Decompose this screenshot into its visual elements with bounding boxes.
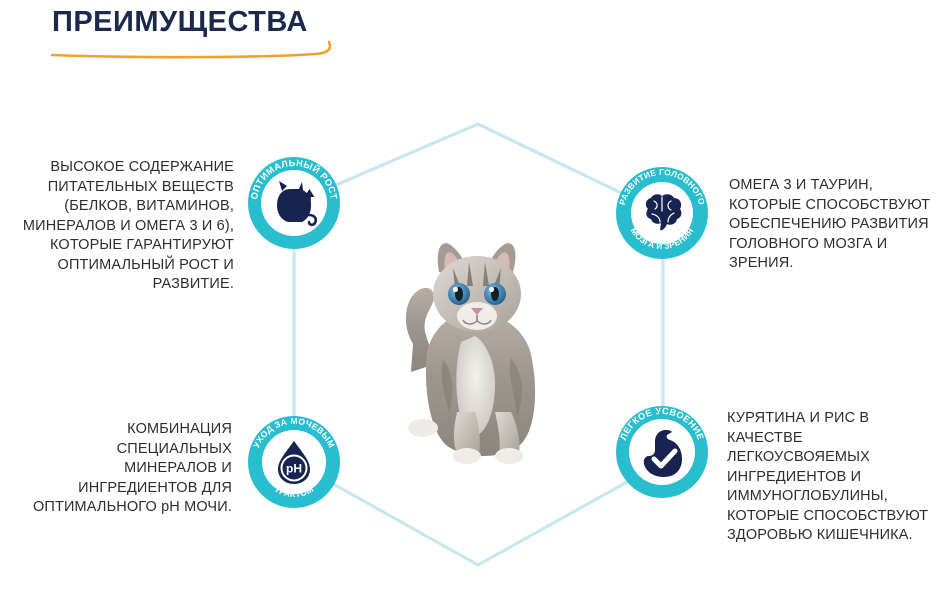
text-block-urinary: КОМБИНАЦИЯ СПЕЦИАЛЬНЫХ МИНЕРАЛОВ И ИНГРЕ… <box>20 420 232 518</box>
text-line: ОБЕСПЕЧЕНИЮ РАЗВИТИЯ <box>729 215 945 235</box>
kitten-photo <box>383 232 568 468</box>
badge-optimal-growth[interactable]: ОПТИМАЛЬНЫЙ РОСТ <box>246 155 342 251</box>
text-line: ИНГРЕДИЕНТОВ И <box>727 468 949 488</box>
text-line: ОМЕГА 3 И ТАУРИН, <box>729 176 945 196</box>
text-line: СПЕЦИАЛЬНЫХ <box>20 440 232 460</box>
text-line: ГОЛОВНОГО МОЗГА И <box>729 235 945 255</box>
badge-urinary-tract[interactable]: УХОД ЗА МОЧЕВЫМ ТРАКТОМ pH <box>246 414 342 510</box>
text-block-nutrients: ВЫСОКОЕ СОДЕРЖАНИЕ ПИТАТЕЛЬНЫХ ВЕЩЕСТВ (… <box>0 158 234 295</box>
text-line: МИНЕРАЛОВ И ОМЕГА 3 И 6), <box>0 217 234 237</box>
text-line: КУРЯТИНА И РИС В <box>727 409 949 429</box>
text-line: ПИТАТЕЛЬНЫХ ВЕЩЕСТВ <box>0 178 234 198</box>
text-line: ВЫСОКОЕ СОДЕРЖАНИЕ <box>0 158 234 178</box>
badge-easy-digestion[interactable]: ЛЕГКОЕ УСВОЕНИЕ <box>614 404 710 500</box>
text-line: (БЕЛКОВ, ВИТАМИНОВ, <box>0 197 234 217</box>
text-line: ЛЕГКОУСВОЯЕМЫХ <box>727 448 949 468</box>
title-underline-swoosh <box>48 40 348 62</box>
svg-text:pH: pH <box>286 462 302 476</box>
text-line: КОТОРЫЕ ГАРАНТИРУЮТ <box>0 236 234 256</box>
text-block-digestion: КУРЯТИНА И РИС В КАЧЕСТВЕ ЛЕГКОУСВОЯЕМЫХ… <box>727 409 949 546</box>
text-line: МИНЕРАЛОВ И <box>20 459 232 479</box>
text-line: РАЗВИТИЕ. <box>0 275 234 295</box>
text-line: ОПТИМАЛЬНОГО pH МОЧИ. <box>20 498 232 518</box>
text-line: ИММУНОГЛОБУЛИНЫ, <box>727 487 949 507</box>
infographic-stage: ПРЕИМУЩЕСТВА <box>0 0 952 611</box>
text-line: КАЧЕСТВЕ <box>727 429 949 449</box>
badge-brain-vision[interactable]: РАЗВИТИЕ ГОЛОВНОГО МОЗГА И ЗРЕНИЯ <box>614 165 710 261</box>
text-line: ИНГРЕДИЕНТОВ ДЛЯ <box>20 479 232 499</box>
text-block-brain: ОМЕГА 3 И ТАУРИН, КОТОРЫЕ СПОСОБСТВУЮТ О… <box>729 176 945 274</box>
text-line: КОТОРЫЕ СПОСОБСТВУЮТ <box>729 196 945 216</box>
text-line: КОТОРЫЕ СПОСОБСТВУЮТ <box>727 507 949 527</box>
text-line: ЗДОРОВЬЮ КИШЕЧНИКА. <box>727 526 949 546</box>
text-line: ОПТИМАЛЬНЫЙ РОСТ И <box>0 256 234 276</box>
text-line: ЗРЕНИЯ. <box>729 254 945 274</box>
page-title: ПРЕИМУЩЕСТВА <box>52 8 308 37</box>
text-line: КОМБИНАЦИЯ <box>20 420 232 440</box>
page-title-block: ПРЕИМУЩЕСТВА <box>52 8 308 37</box>
